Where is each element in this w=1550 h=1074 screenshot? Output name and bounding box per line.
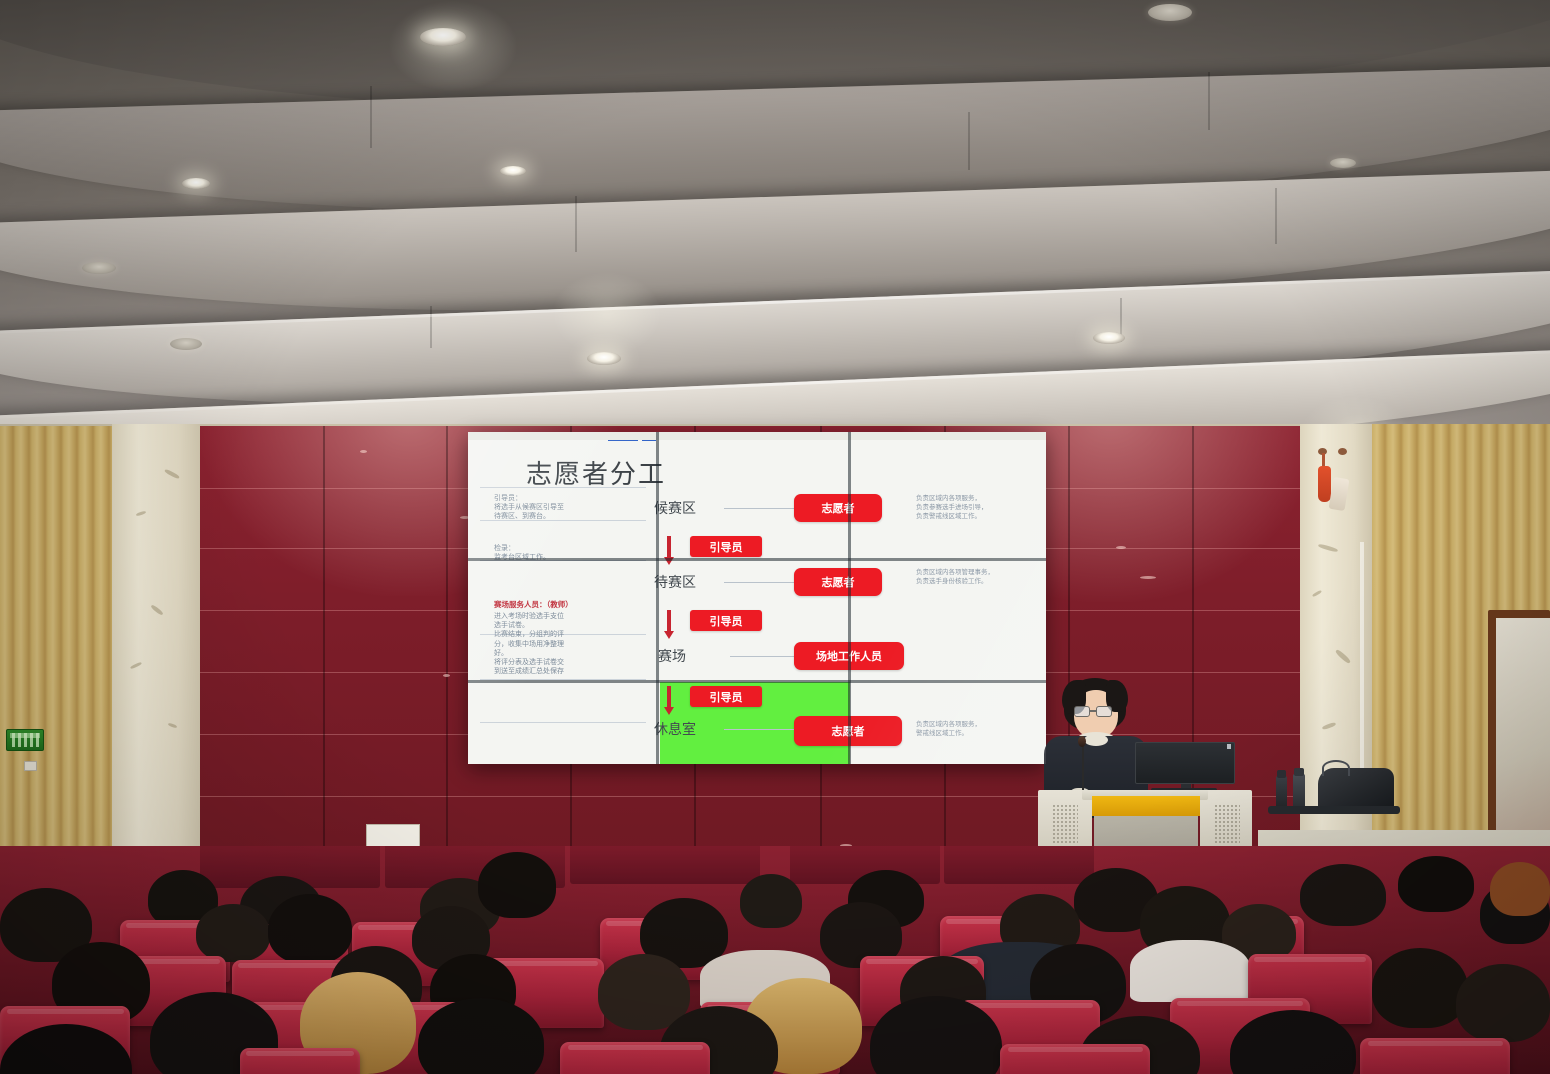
slide-surface: 志愿者分工 引导员： 将选手从候赛区引导至 待赛区、到赛台。 检录： 监考台区域…	[468, 432, 1046, 764]
ceiling-seam	[968, 112, 970, 170]
wall-scuff	[1335, 649, 1352, 665]
slide-description: 负责区域内各项服务， 警戒线区域工作。	[916, 720, 1036, 738]
glasses-lens-left	[1074, 706, 1090, 717]
ceiling-light	[420, 28, 466, 46]
wall-scuff	[1318, 543, 1338, 552]
ceiling-light	[182, 178, 210, 189]
wall-sign-card	[366, 824, 420, 848]
audience-head	[1490, 862, 1550, 916]
led-video-wall[interactable]: 志愿者分工 引导员： 将选手从候赛区引导至 待赛区、到赛台。 检录： 监考台区域…	[468, 432, 1046, 764]
ceiling-light	[170, 338, 202, 350]
wall-speck	[443, 674, 450, 677]
thermos-left-cap	[1277, 770, 1286, 778]
desk-back	[570, 846, 760, 884]
slide-connector	[724, 582, 794, 583]
wall-scuff	[1322, 722, 1337, 731]
audience-head	[740, 874, 802, 928]
wall-scuff	[1312, 590, 1322, 598]
panel-bezel-horizontal	[468, 680, 1046, 683]
audience-head	[1398, 856, 1474, 912]
ceiling-seam	[1208, 72, 1210, 130]
wall-scuff	[130, 662, 142, 670]
slide-note-emphasis: 赛场服务人员：（教师）	[494, 600, 654, 610]
microphone-head	[1078, 736, 1086, 747]
zone-label: 候赛区	[654, 498, 696, 518]
ceiling-seam	[370, 86, 372, 148]
flow-arrow-down	[667, 686, 671, 708]
ceiling-seam	[430, 306, 432, 348]
desk-back	[944, 846, 1094, 884]
exit-sign	[6, 729, 44, 751]
ceiling-seam	[1275, 188, 1277, 244]
pillar-edge-highlight	[1360, 542, 1364, 792]
role-chip-volunteer[interactable]: 志愿者	[794, 494, 882, 522]
flow-arrow-down	[667, 610, 671, 632]
role-chip-volunteer[interactable]: 志愿者	[794, 568, 882, 596]
ceiling-seam	[575, 196, 577, 252]
slide-connector	[724, 729, 794, 730]
glasses-lens-right	[1096, 706, 1112, 717]
wall-scuff	[168, 723, 177, 729]
audience-shoulders	[1130, 940, 1250, 1002]
wall-switch-plate[interactable]	[24, 761, 37, 771]
flow-arrow-down	[667, 536, 671, 558]
podium-speaker-grille-right	[1214, 804, 1240, 844]
audience-head	[1456, 964, 1550, 1042]
slide-description: 负责区域内各项服务， 负责参赛选手进场引导， 负责警戒线区域工作。	[916, 494, 1036, 522]
slide-note: 进入考场时验选手支位 选手试卷。 比赛结束，分组判的评 分，收集中场用净整理 好…	[494, 612, 646, 677]
zone-label: 休息室	[654, 719, 696, 739]
monitor-screen[interactable]	[1135, 742, 1235, 784]
panel-bezel-vertical	[848, 432, 851, 764]
ceiling-light	[82, 262, 116, 274]
wall-scuff	[150, 604, 163, 616]
slide-note: 引导员： 将选手从候赛区引导至 待赛区、到赛台。	[494, 494, 644, 522]
wall-scuff	[136, 511, 146, 517]
slide-connector	[730, 656, 794, 657]
hanging-tassel	[1318, 448, 1352, 520]
role-chip-guide[interactable]: 引导员	[690, 610, 762, 631]
ceiling-light	[1093, 332, 1125, 344]
audience-head	[478, 852, 556, 918]
ceiling-light	[587, 352, 621, 365]
wall-speck	[360, 450, 367, 453]
podium-speaker-grille-left	[1052, 804, 1078, 844]
slide-connector	[724, 508, 794, 509]
glasses-bridge	[1090, 710, 1097, 712]
role-chip-guide[interactable]: 引导员	[690, 686, 762, 707]
seat[interactable]	[1000, 1044, 1150, 1074]
ceiling-light	[1330, 158, 1356, 168]
wall-speck	[1140, 576, 1156, 579]
wall-speck	[1116, 546, 1126, 549]
audience-head	[268, 894, 352, 964]
presenter-collar-inner	[1084, 734, 1108, 746]
audience-area	[0, 846, 1550, 1074]
thermos-right-cap	[1294, 768, 1304, 776]
seat[interactable]	[240, 1048, 360, 1074]
ceiling-light	[500, 166, 526, 176]
ceiling	[0, 0, 1550, 452]
ceiling-light	[1148, 4, 1192, 21]
audience-head	[1372, 948, 1468, 1028]
audience-head	[1300, 864, 1386, 926]
podium-front-panel	[1092, 796, 1200, 816]
audience-head	[196, 904, 270, 962]
zone-label: 待赛区	[654, 572, 696, 592]
auditorium-photo: 志愿者分工 引导员： 将选手从候赛区引导至 待赛区、到赛台。 检录： 监考台区域…	[0, 0, 1550, 1074]
backpack-strap	[1322, 760, 1350, 776]
wall-scuff	[164, 468, 180, 479]
slide-top-margin	[468, 432, 1046, 440]
monitor-indicator	[1227, 744, 1231, 749]
slide-rule	[480, 722, 646, 723]
bag-base-shadow	[1268, 806, 1400, 814]
panel-bezel-horizontal	[468, 558, 1046, 561]
role-chip-guide[interactable]: 引导员	[690, 536, 762, 557]
zone-label: 赛场	[658, 646, 686, 666]
slide-description: 负责区域内各项管理事务， 负责选手身份核验工作。	[916, 568, 1036, 586]
seat[interactable]	[1360, 1038, 1510, 1074]
slide-title: 志愿者分工	[526, 454, 666, 491]
panel-bezel-vertical	[656, 432, 659, 764]
seat[interactable]	[560, 1042, 710, 1074]
